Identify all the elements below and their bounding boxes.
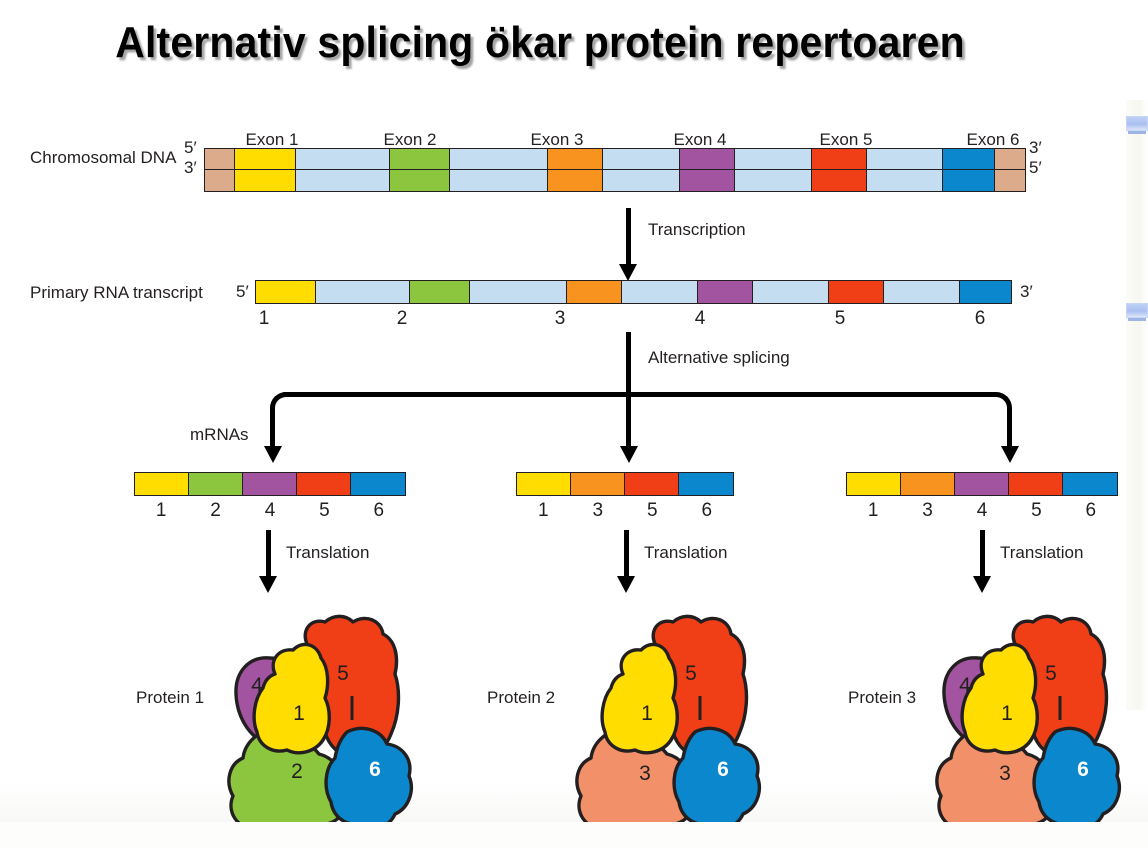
protein-2-label: Protein 2	[487, 688, 555, 708]
intron-5	[884, 281, 960, 303]
exon-label-3: Exon 3	[531, 130, 584, 150]
intron-5	[867, 170, 943, 191]
exon-5	[812, 170, 867, 191]
mrna-bar-1	[134, 472, 406, 496]
protein-2-structure: 5316	[548, 600, 808, 815]
exon-4	[955, 473, 1009, 495]
protein-subunit-label-6: 6	[717, 758, 729, 781]
mrna-exon-number: 2	[210, 500, 221, 522]
mrna-exon-number: 6	[374, 500, 385, 522]
transcription-label: Transcription	[648, 220, 746, 240]
mrna-exon-number: 5	[647, 500, 658, 522]
exon-3	[571, 473, 625, 495]
intron-2	[450, 170, 548, 191]
exon-label-1: Exon 1	[246, 130, 299, 150]
protein-subunit-label-1: 1	[1001, 702, 1013, 725]
intron-4	[735, 149, 811, 169]
exon-1	[256, 281, 316, 303]
exon-2	[390, 170, 450, 191]
protein-subunit-label-1: 1	[293, 702, 305, 725]
dna-strand-top	[204, 148, 1026, 170]
mrna-exon-number: 4	[977, 500, 988, 522]
exon-3	[567, 281, 622, 303]
mrna-exon-number: 6	[1086, 500, 1097, 522]
exon-1	[517, 473, 571, 495]
protein-subunit-1	[602, 644, 677, 752]
protein-subunit-label-5: 5	[337, 662, 349, 685]
splicing-diagram: Chromosomal DNA 5′ 3′ 3′ 5′ Exon 1 Exon …	[0, 100, 1085, 840]
exon-6	[679, 473, 733, 495]
utr-5prime	[205, 170, 235, 191]
intron-3	[603, 149, 679, 169]
protein-1-structure: 45216	[200, 600, 460, 815]
dna-5prime-right: 5′	[1029, 158, 1042, 178]
exon-5	[812, 149, 867, 169]
exon-1	[135, 473, 189, 495]
page-title: Alternativ splicing ökar protein reperto…	[38, 18, 1042, 68]
protein-3-label: Protein 3	[848, 688, 916, 708]
scroll-thumb-top[interactable]	[1126, 116, 1148, 131]
transcript-exon-number-1: 1	[259, 308, 270, 330]
exon-label-2: Exon 2	[384, 130, 437, 150]
protein-subunit-label-6: 6	[1077, 758, 1089, 781]
transcript-exon-number-3: 3	[555, 308, 566, 330]
protein-3-structure: 45316	[908, 600, 1148, 815]
exon-label-6: Exon 6	[967, 130, 1020, 150]
exon-3	[901, 473, 955, 495]
exon-4	[680, 149, 735, 169]
primary-rna-transcript-bar	[255, 280, 1012, 304]
exon-4	[680, 170, 735, 191]
mrna-1-exon-numbers: 12456	[134, 500, 406, 524]
protein-subunit-label-4: 4	[959, 674, 971, 697]
exon-1	[235, 170, 295, 191]
protein-subunit-label-5: 5	[685, 662, 697, 685]
exon-5	[297, 473, 351, 495]
exon-6	[943, 170, 995, 191]
protein-subunit-label-3: 3	[999, 762, 1011, 785]
mrna-exon-number: 1	[538, 500, 549, 522]
exon-2	[390, 149, 450, 169]
intron-5	[867, 149, 943, 169]
exon-3	[548, 170, 603, 191]
mrna-exon-number: 3	[922, 500, 933, 522]
utr-3prime	[995, 149, 1025, 169]
intron-1	[316, 281, 410, 303]
mrna-exon-number: 4	[265, 500, 276, 522]
transcript-exon-number-4: 4	[695, 308, 706, 330]
intron-2	[470, 281, 567, 303]
translation-label-1: Translation	[286, 543, 369, 563]
protein-subunit-label-5: 5	[1045, 662, 1057, 685]
mrna-2-exon-numbers: 1356	[516, 500, 734, 524]
exon-5	[1009, 473, 1063, 495]
exon-2	[189, 473, 243, 495]
protein-1-label: Protein 1	[136, 688, 204, 708]
transcript-exon-number-5: 5	[835, 308, 846, 330]
intron-3	[603, 170, 679, 191]
protein-subunit-label-3: 3	[639, 762, 651, 785]
transcript-5prime: 5′	[236, 282, 249, 302]
utr-5prime	[205, 149, 235, 169]
scroll-thumb-bottom[interactable]	[1126, 303, 1148, 318]
translation-label-3: Translation	[1000, 543, 1083, 563]
exon-4	[243, 473, 297, 495]
translation-label-2: Translation	[644, 543, 727, 563]
chromosomal-dna-bar	[204, 148, 1026, 192]
slide-scroll-rail[interactable]	[1126, 100, 1148, 710]
exon-1	[235, 149, 295, 169]
intron-4	[753, 281, 829, 303]
mrna-exon-number: 5	[319, 500, 330, 522]
exon-1	[847, 473, 901, 495]
intron-4	[735, 170, 811, 191]
exon-3	[548, 149, 603, 169]
mrna-exon-number: 6	[701, 500, 712, 522]
dna-strand-bottom	[204, 170, 1026, 192]
intron-1	[296, 149, 390, 169]
exon-5	[625, 473, 679, 495]
protein-subunit-label-2: 2	[291, 760, 303, 783]
mrna-exon-number: 5	[1031, 500, 1042, 522]
exon-6	[960, 281, 1011, 303]
mrna-bar-2	[516, 472, 734, 496]
exon-6	[1063, 473, 1117, 495]
exon-6	[943, 149, 995, 169]
protein-subunit-label-6: 6	[369, 758, 381, 781]
mrnas-label: mRNAs	[190, 425, 249, 445]
mrna-bar-3	[846, 472, 1118, 496]
mrna-exon-number: 1	[156, 500, 167, 522]
alternative-splicing-label: Alternative splicing	[648, 348, 790, 368]
protein-subunit-label-4: 4	[251, 674, 263, 697]
transcript-exon-number-6: 6	[975, 308, 986, 330]
mrna-3-exon-numbers: 13456	[846, 500, 1118, 524]
slide-bottom-band	[0, 822, 1148, 848]
transcript-exon-number-2: 2	[397, 308, 408, 330]
exon-2	[410, 281, 470, 303]
intron-2	[450, 149, 548, 169]
slide-canvas: Alternativ splicing ökar protein reperto…	[0, 0, 1148, 848]
primary-transcript-label: Primary RNA transcript	[30, 283, 203, 303]
transcript-3prime: 3′	[1020, 282, 1033, 302]
exon-5	[829, 281, 884, 303]
transcript-exon-numbers: 1 2 3 4 5 6	[0, 308, 1085, 332]
intron-3	[622, 281, 698, 303]
exon-4	[698, 281, 753, 303]
dna-3prime-left: 3′	[184, 158, 197, 178]
exon-label-5: Exon 5	[820, 130, 873, 150]
mrna-exon-number: 3	[592, 500, 603, 522]
protein-subunit-label-1: 1	[641, 702, 653, 725]
exon-label-4: Exon 4	[674, 130, 727, 150]
mrna-exon-number: 1	[868, 500, 879, 522]
intron-1	[296, 170, 390, 191]
utr-3prime	[995, 170, 1025, 191]
splicing-branch-arrows	[0, 392, 1085, 482]
exon-6	[351, 473, 405, 495]
